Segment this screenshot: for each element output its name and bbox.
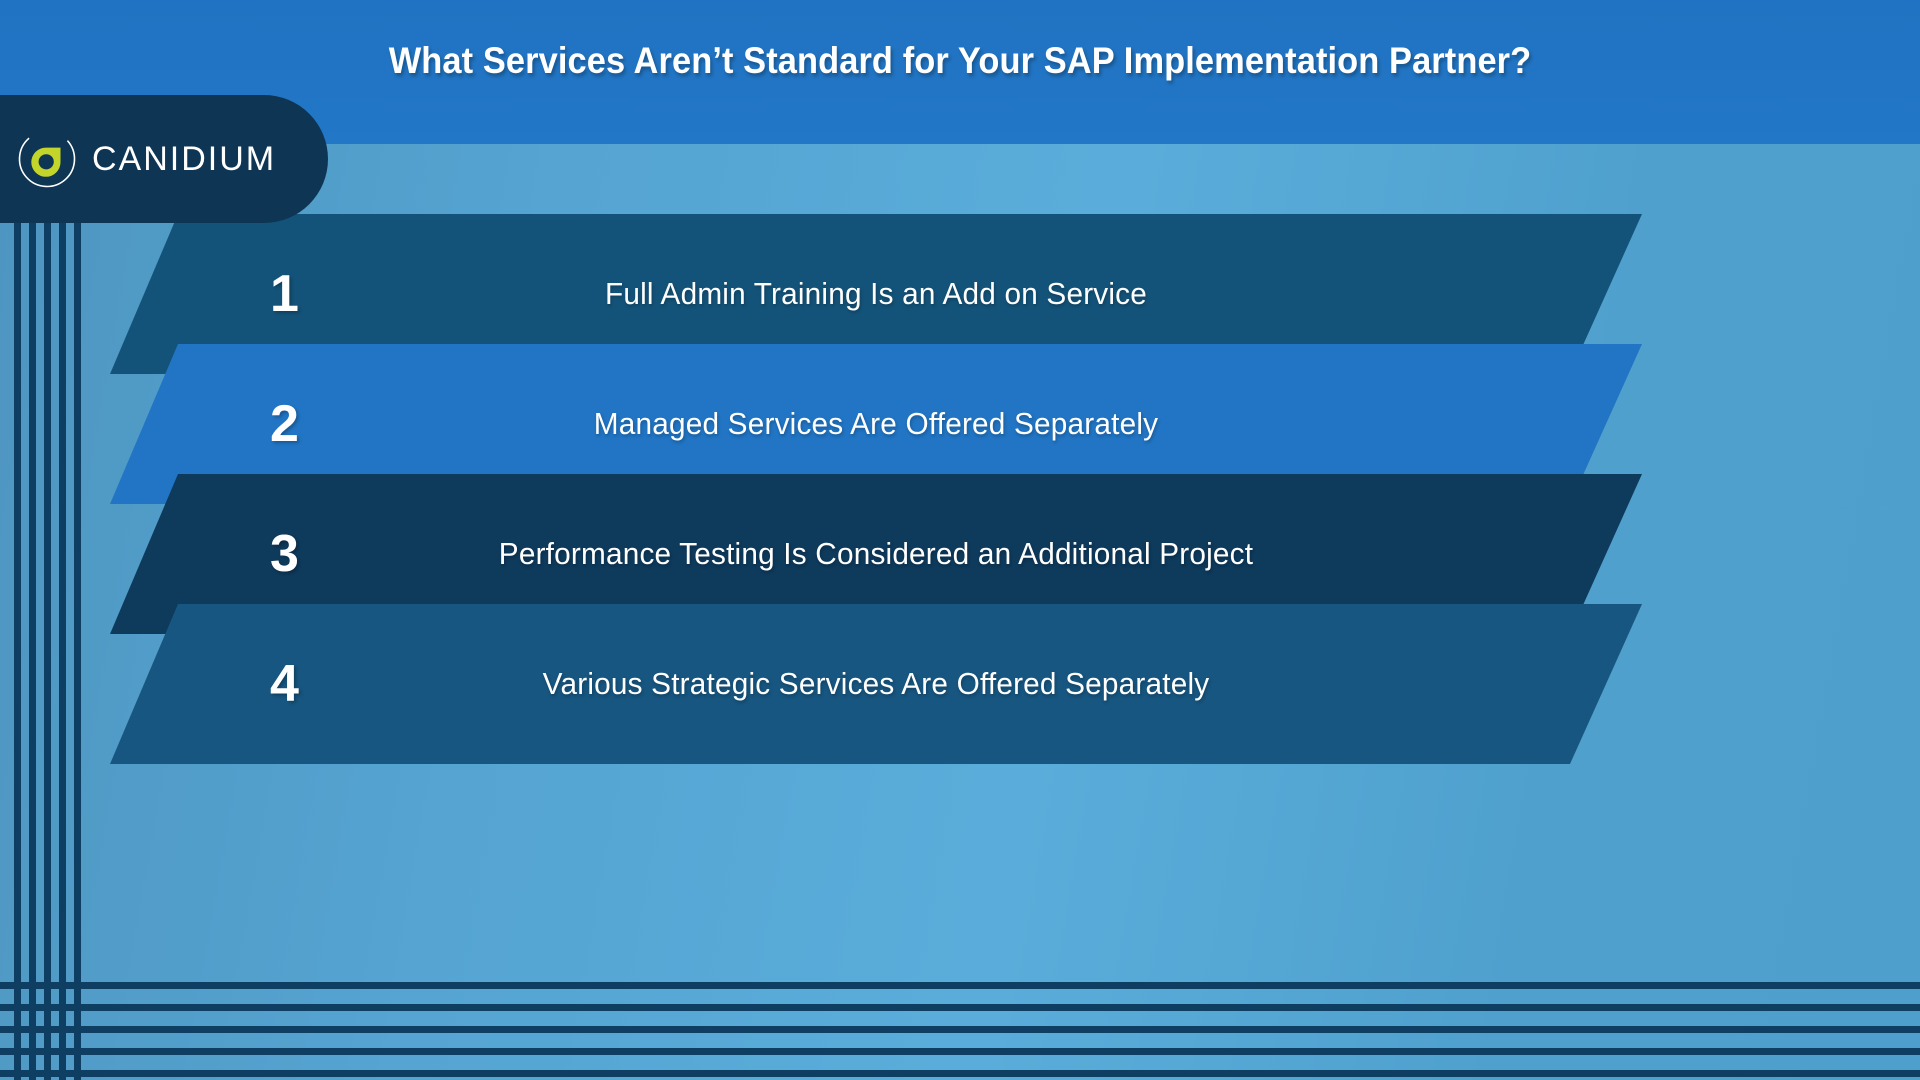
- banner-label-2: Managed Services Are Offered Separately: [141, 406, 1612, 442]
- canidium-droplet-icon: [16, 128, 78, 190]
- banner-label-4: Various Strategic Services Are Offered S…: [141, 666, 1612, 702]
- logo-wordmark: CANIDIUM: [92, 140, 276, 179]
- logo-badge[interactable]: CANIDIUM: [0, 95, 328, 223]
- banner-row-4[interactable]: 4Various Strategic Services Are Offered …: [110, 604, 1642, 764]
- banner-label-1: Full Admin Training Is an Add on Service: [141, 276, 1612, 312]
- banner-label-3: Performance Testing Is Considered an Add…: [141, 536, 1612, 572]
